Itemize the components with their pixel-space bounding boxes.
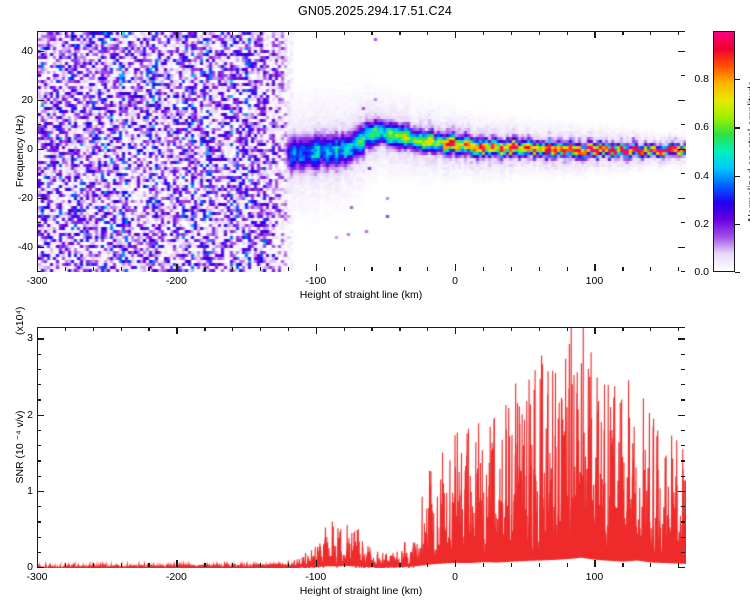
axis-tick — [455, 560, 456, 567]
axis-tick — [204, 267, 205, 271]
y-tick-label: -20 — [7, 192, 33, 204]
axis-tick — [371, 327, 372, 331]
axis-tick — [399, 267, 400, 271]
colorbar-tick — [735, 127, 740, 128]
axis-tick — [681, 369, 685, 370]
axis-tick — [567, 267, 568, 271]
x-tick-label: -200 — [166, 571, 187, 583]
axis-tick — [427, 327, 428, 331]
spectrogram-y-axis-title: Frequency (Hz) — [14, 115, 26, 187]
axis-tick — [288, 267, 289, 271]
axis-tick — [344, 267, 345, 271]
axis-tick — [594, 327, 595, 334]
axis-tick — [567, 563, 568, 567]
axis-tick — [288, 327, 289, 331]
axis-tick — [37, 75, 41, 76]
axis-tick — [678, 415, 685, 416]
axis-tick — [483, 31, 484, 35]
axis-tick — [678, 198, 685, 199]
axis-tick — [37, 149, 44, 150]
x-tick-label: 0 — [452, 571, 458, 583]
axis-tick — [650, 327, 651, 331]
axis-tick — [455, 264, 456, 271]
axis-tick — [65, 563, 66, 567]
axis-tick — [176, 264, 177, 271]
axis-tick — [371, 31, 372, 35]
axis-tick — [37, 560, 38, 567]
axis-tick — [260, 327, 261, 331]
colorbar-title: Normalized spectral amplitude — [746, 80, 750, 221]
axis-tick — [37, 338, 44, 339]
x-tick-label: 100 — [586, 571, 604, 583]
colorbar-gradient — [714, 32, 734, 271]
axis-tick — [37, 264, 38, 271]
axis-tick — [37, 173, 41, 174]
axis-tick — [511, 563, 512, 567]
spectrogram-image — [38, 32, 686, 272]
axis-tick — [93, 327, 94, 331]
x-tick-label: 0 — [452, 275, 458, 287]
axis-tick — [176, 327, 177, 334]
colorbar-tick — [735, 272, 740, 273]
axis-tick — [37, 521, 41, 522]
axis-tick — [681, 460, 685, 461]
axis-tick — [371, 563, 372, 567]
axis-tick — [681, 271, 685, 272]
axis-tick — [37, 369, 41, 370]
axis-tick — [681, 445, 685, 446]
axis-tick — [681, 506, 685, 507]
axis-tick — [344, 327, 345, 331]
figure-root: GN05.2025.294.17.51.C24 -300-200-1000100… — [0, 0, 750, 600]
axis-tick — [316, 327, 317, 334]
snr-x-axis-title: Height of straight line (km) — [300, 585, 423, 597]
axis-tick — [681, 384, 685, 385]
axis-tick — [681, 552, 685, 553]
axis-tick — [678, 567, 685, 568]
axis-tick — [176, 31, 177, 38]
x-tick-label: -100 — [305, 275, 326, 287]
axis-tick — [121, 563, 122, 567]
colorbar — [713, 31, 735, 272]
axis-tick — [37, 415, 44, 416]
axis-tick — [650, 31, 651, 35]
axis-tick — [427, 31, 428, 35]
axis-tick — [204, 327, 205, 331]
axis-tick — [260, 267, 261, 271]
axis-tick — [232, 563, 233, 567]
axis-tick — [37, 552, 41, 553]
axis-tick — [37, 384, 41, 385]
axis-tick — [483, 563, 484, 567]
axis-tick — [539, 563, 540, 567]
axis-tick — [93, 31, 94, 35]
axis-tick — [399, 563, 400, 567]
axis-tick — [650, 563, 651, 567]
axis-tick — [427, 563, 428, 567]
axis-tick — [539, 267, 540, 271]
axis-tick — [539, 327, 540, 331]
axis-tick — [681, 430, 685, 431]
axis-tick — [678, 338, 685, 339]
y-tick-label: 40 — [7, 45, 33, 57]
y-tick-label: 20 — [7, 94, 33, 106]
colorbar-tick — [735, 176, 740, 177]
axis-tick — [344, 563, 345, 567]
x-tick-label: -100 — [305, 571, 326, 583]
axis-tick — [594, 560, 595, 567]
axis-tick — [37, 354, 41, 355]
axis-tick — [148, 563, 149, 567]
colorbar-tick-label: 0.8 — [687, 73, 709, 85]
colorbar-tick — [735, 79, 740, 80]
axis-tick — [232, 327, 233, 331]
axis-tick — [399, 31, 400, 35]
snr-panel — [37, 327, 685, 567]
axis-tick — [455, 327, 456, 334]
axis-tick — [316, 264, 317, 271]
axis-tick — [427, 267, 428, 271]
axis-tick — [622, 31, 623, 35]
axis-tick — [681, 399, 685, 400]
axis-tick — [260, 31, 261, 35]
axis-tick — [148, 267, 149, 271]
axis-tick — [37, 476, 41, 477]
axis-tick — [678, 100, 685, 101]
axis-tick — [681, 521, 685, 522]
axis-tick — [37, 327, 38, 334]
y-tick-label: 0 — [7, 561, 33, 573]
axis-tick — [681, 173, 685, 174]
axis-tick — [678, 491, 685, 492]
axis-tick — [37, 247, 44, 248]
axis-tick — [37, 51, 44, 52]
spectrogram-x-axis-title: Height of straight line (km) — [300, 289, 423, 301]
axis-tick — [93, 563, 94, 567]
axis-tick — [121, 31, 122, 35]
axis-tick — [678, 31, 679, 35]
axis-tick — [37, 491, 44, 492]
axis-tick — [37, 537, 41, 538]
axis-tick — [65, 31, 66, 35]
axis-tick — [37, 445, 41, 446]
axis-tick — [37, 198, 44, 199]
axis-tick — [260, 563, 261, 567]
x-tick-label: -200 — [166, 275, 187, 287]
axis-tick — [511, 267, 512, 271]
axis-tick — [37, 567, 44, 568]
axis-tick — [232, 267, 233, 271]
axis-tick — [37, 31, 38, 38]
colorbar-tick — [735, 224, 740, 225]
snr-y-exponent-label: (x10⁴) — [14, 307, 26, 335]
y-tick-label: 1 — [7, 485, 33, 497]
axis-tick — [681, 124, 685, 125]
axis-tick — [121, 267, 122, 271]
colorbar-tick-label: 0.6 — [687, 121, 709, 133]
axis-tick — [148, 31, 149, 35]
axis-tick — [288, 563, 289, 567]
axis-tick — [567, 327, 568, 331]
axis-tick — [65, 267, 66, 271]
axis-tick — [65, 327, 66, 331]
axis-tick — [678, 327, 679, 331]
axis-tick — [121, 327, 122, 331]
axis-tick — [511, 327, 512, 331]
y-tick-label: -40 — [7, 241, 33, 253]
axis-tick — [204, 563, 205, 567]
axis-tick — [176, 560, 177, 567]
axis-tick — [681, 75, 685, 76]
axis-tick — [678, 267, 679, 271]
axis-tick — [594, 264, 595, 271]
axis-tick — [37, 271, 41, 272]
axis-tick — [148, 327, 149, 331]
axis-tick — [594, 31, 595, 38]
axis-tick — [455, 31, 456, 38]
axis-tick — [622, 563, 623, 567]
snr-y-axis-title: SNR (10 ⁻⁴ v/v) — [14, 410, 26, 483]
axis-tick — [678, 247, 685, 248]
colorbar-tick-label: 0.2 — [687, 218, 709, 230]
axis-tick — [650, 267, 651, 271]
axis-tick — [681, 537, 685, 538]
axis-tick — [483, 327, 484, 331]
axis-tick — [344, 31, 345, 35]
axis-tick — [37, 222, 41, 223]
axis-tick — [399, 327, 400, 331]
axis-tick — [567, 31, 568, 35]
axis-tick — [316, 31, 317, 38]
axis-tick — [204, 31, 205, 35]
axis-tick — [371, 267, 372, 271]
axis-tick — [288, 31, 289, 35]
spectrogram-panel — [37, 31, 685, 271]
axis-tick — [93, 267, 94, 271]
snr-line-trace — [38, 328, 686, 568]
axis-tick — [681, 354, 685, 355]
colorbar-tick-label: 0.4 — [687, 170, 709, 182]
axis-tick — [678, 149, 685, 150]
colorbar-tick-label: 0.0 — [687, 266, 709, 278]
axis-tick — [37, 399, 41, 400]
axis-tick — [316, 560, 317, 567]
axis-tick — [622, 327, 623, 331]
axis-tick — [681, 222, 685, 223]
figure-title: GN05.2025.294.17.51.C24 — [0, 4, 750, 18]
axis-tick — [37, 124, 41, 125]
axis-tick — [37, 430, 41, 431]
axis-tick — [539, 31, 540, 35]
axis-tick — [511, 31, 512, 35]
axis-tick — [232, 31, 233, 35]
axis-tick — [37, 506, 41, 507]
axis-tick — [483, 267, 484, 271]
axis-tick — [678, 51, 685, 52]
axis-tick — [37, 460, 41, 461]
x-tick-label: 100 — [586, 275, 604, 287]
x-tick-label: -300 — [26, 275, 47, 287]
axis-tick — [681, 476, 685, 477]
axis-tick — [37, 100, 44, 101]
axis-tick — [622, 267, 623, 271]
